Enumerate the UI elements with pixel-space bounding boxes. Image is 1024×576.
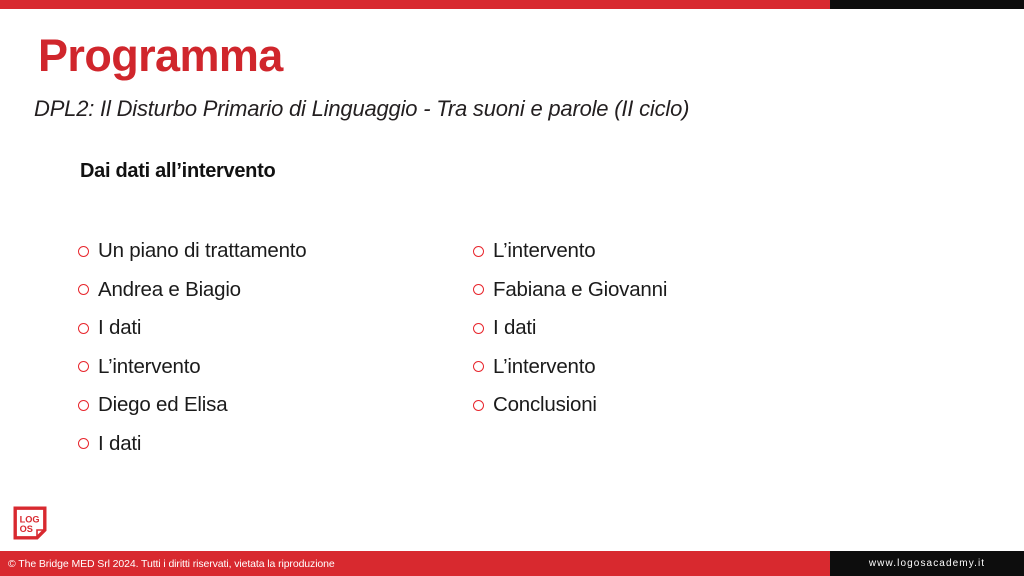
circle-outline-icon bbox=[78, 323, 89, 334]
circle-outline-icon bbox=[473, 246, 484, 257]
list-item: Diego ed Elisa bbox=[78, 386, 468, 425]
list-item-label: L’intervento bbox=[493, 241, 595, 262]
circle-outline-icon bbox=[78, 361, 89, 372]
list-item-label: I dati bbox=[493, 318, 536, 339]
circle-outline-icon bbox=[78, 400, 89, 411]
section-heading: Dai dati all’intervento bbox=[80, 160, 275, 183]
presentation-slide: Programma DPL2: Il Disturbo Primario di … bbox=[0, 0, 1024, 576]
agenda-left-column: Un piano di trattamento Andrea e Biagio … bbox=[78, 232, 468, 463]
circle-outline-icon bbox=[473, 284, 484, 295]
circle-outline-icon bbox=[473, 361, 484, 372]
circle-outline-icon bbox=[78, 284, 89, 295]
top-accent-bar-black-segment bbox=[830, 0, 1024, 9]
list-item-label: Un piano di trattamento bbox=[98, 241, 307, 262]
footer-website-text: www.logosacademy.it bbox=[869, 558, 985, 569]
logos-square-logo: LOG OS bbox=[13, 506, 47, 540]
footer-website-bar: www.logosacademy.it bbox=[830, 551, 1024, 576]
list-item-label: Conclusioni bbox=[493, 395, 597, 416]
svg-text:OS: OS bbox=[20, 524, 33, 534]
list-item: Conclusioni bbox=[473, 386, 863, 425]
slide-footer: © The Bridge MED Srl 2024. Tutti i dirit… bbox=[0, 551, 1024, 576]
list-item: Un piano di trattamento bbox=[78, 232, 468, 271]
list-item: L’intervento bbox=[473, 232, 863, 271]
list-item: L’intervento bbox=[473, 348, 863, 387]
agenda-columns: Un piano di trattamento Andrea e Biagio … bbox=[78, 232, 958, 463]
slide-title: Programma bbox=[38, 33, 283, 78]
top-accent-bar bbox=[0, 0, 1024, 9]
agenda-right-column: L’intervento Fabiana e Giovanni I dati L… bbox=[473, 232, 863, 463]
list-item-label: L’intervento bbox=[98, 357, 200, 378]
footer-copyright-text: © The Bridge MED Srl 2024. Tutti i dirit… bbox=[8, 558, 335, 570]
list-item: I dati bbox=[78, 425, 468, 464]
footer-copyright-bar: © The Bridge MED Srl 2024. Tutti i dirit… bbox=[0, 551, 830, 576]
list-item: Fabiana e Giovanni bbox=[473, 271, 863, 310]
list-item-label: I dati bbox=[98, 318, 141, 339]
list-item-label: L’intervento bbox=[493, 357, 595, 378]
slide-subtitle: DPL2: Il Disturbo Primario di Linguaggio… bbox=[34, 96, 689, 122]
list-item-label: Andrea e Biagio bbox=[98, 280, 241, 301]
circle-outline-icon bbox=[473, 323, 484, 334]
top-accent-bar-red-segment bbox=[0, 0, 830, 9]
list-item-label: Diego ed Elisa bbox=[98, 395, 227, 416]
list-item-label: Fabiana e Giovanni bbox=[493, 280, 667, 301]
list-item-label: I dati bbox=[98, 434, 141, 455]
list-item: I dati bbox=[78, 309, 468, 348]
list-item: I dati bbox=[473, 309, 863, 348]
list-item: L’intervento bbox=[78, 348, 468, 387]
list-item: Andrea e Biagio bbox=[78, 271, 468, 310]
circle-outline-icon bbox=[78, 438, 89, 449]
circle-outline-icon bbox=[78, 246, 89, 257]
svg-text:LOG: LOG bbox=[20, 514, 40, 524]
circle-outline-icon bbox=[473, 400, 484, 411]
